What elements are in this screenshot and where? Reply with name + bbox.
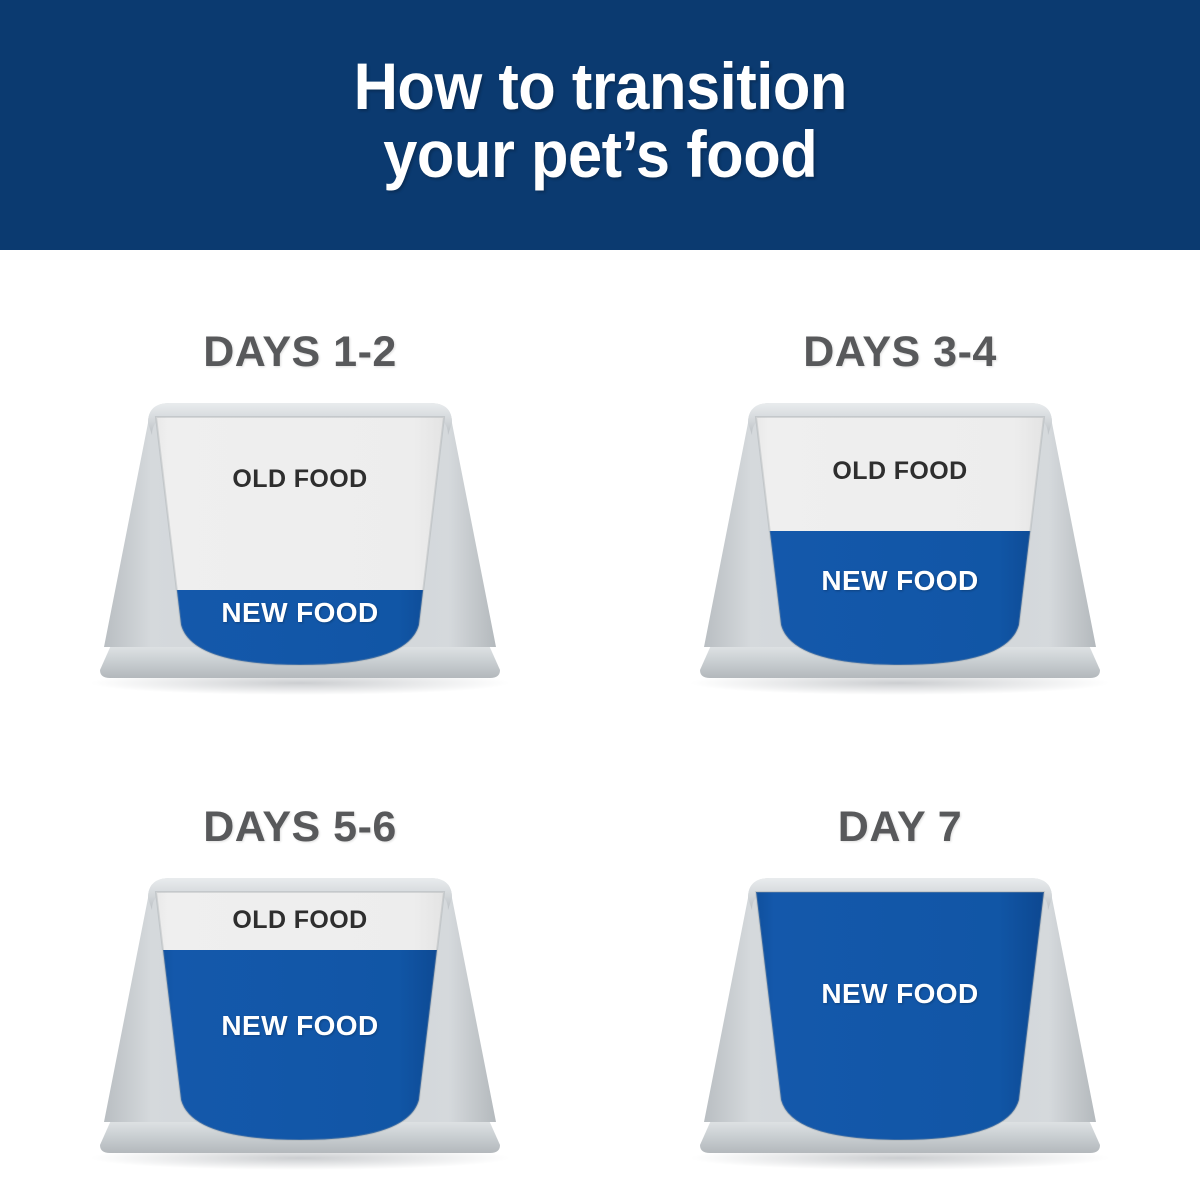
step-label-days-3-4: DAYS 3-4 xyxy=(600,328,1200,377)
bowl-illustration xyxy=(652,870,1148,1170)
transition-step-panel: DAY 7 xyxy=(600,725,1200,1200)
transition-step-panel: DAYS 3-4 xyxy=(600,250,1200,725)
page-title: How to transition your pet’s food xyxy=(353,53,846,189)
food-bowl-day-7: NEW FOOD xyxy=(652,870,1148,1170)
transition-step-panel: DAYS 1-2 xyxy=(0,250,600,725)
transition-step-panel: DAYS 5-6 xyxy=(0,725,600,1200)
bowl-illustration xyxy=(652,395,1148,695)
bowl-illustration xyxy=(52,870,548,1170)
page-header: How to transition your pet’s food xyxy=(0,0,1200,250)
food-bowl-days-5-6: OLD FOOD NEW FOOD xyxy=(52,870,548,1170)
food-bowl-days-3-4: OLD FOOD NEW FOOD xyxy=(652,395,1148,695)
step-label-days-1-2: DAYS 1-2 xyxy=(0,328,600,377)
food-bowl-days-1-2: OLD FOOD NEW FOOD xyxy=(52,395,548,695)
bowl-illustration xyxy=(52,395,548,695)
step-label-day-7: DAY 7 xyxy=(600,803,1200,852)
step-label-days-5-6: DAYS 5-6 xyxy=(0,803,600,852)
transition-steps-grid: DAYS 1-2 xyxy=(0,250,1200,1200)
